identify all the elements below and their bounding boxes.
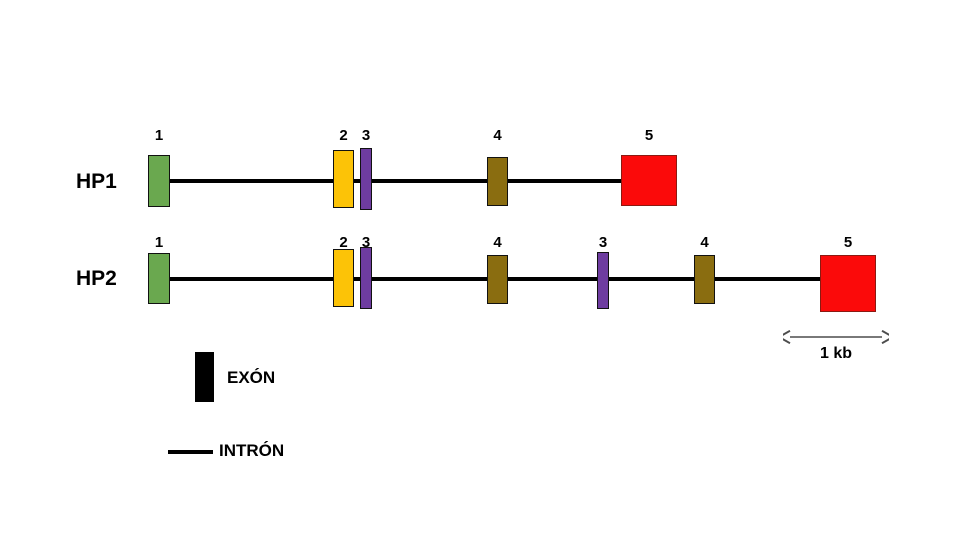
exon-box-hp2-2: [333, 249, 354, 307]
exon-number-hp2-2: 2: [333, 234, 354, 251]
exon-box-hp1-4: [487, 157, 508, 206]
exon-number-hp1-4: 4: [487, 127, 508, 144]
exon-box-hp1-1: [148, 155, 170, 207]
gene-label-hp2: HP2: [76, 267, 117, 291]
exon-number-hp1-1: 1: [148, 127, 170, 144]
exon-number-hp2-3b: 3: [595, 234, 611, 251]
exon-box-hp1-5: [621, 155, 677, 206]
legend-intron-swatch: [168, 450, 213, 454]
exon-number-hp1-3: 3: [358, 127, 374, 144]
exon-box-hp2-4a: [487, 255, 508, 304]
legend-exon-swatch: [195, 352, 214, 402]
gene-structure-diagram: HP1 1 2 3 4 5 HP2 1 2 3 4 3 4 5: [0, 0, 960, 540]
gene-label-hp1: HP1: [76, 170, 117, 194]
exon-box-hp2-5: [820, 255, 876, 312]
exon-number-hp2-5: 5: [820, 234, 876, 251]
legend-intron-label: INTRÓN: [219, 441, 284, 461]
scale-bar-label: 1 kb: [783, 345, 889, 363]
exon-box-hp2-1: [148, 253, 170, 304]
exon-box-hp2-3a: [360, 247, 372, 309]
legend-exon-label: EXÓN: [227, 368, 275, 388]
exon-box-hp1-3: [360, 148, 372, 210]
exon-number-hp1-5: 5: [621, 127, 677, 144]
exon-number-hp1-2: 2: [333, 127, 354, 144]
exon-box-hp2-3b: [597, 252, 609, 309]
exon-number-hp2-3a: 3: [358, 234, 374, 251]
exon-box-hp2-4b: [694, 255, 715, 304]
exon-number-hp2-4a: 4: [487, 234, 508, 251]
exon-box-hp1-2: [333, 150, 354, 208]
exon-number-hp2-1: 1: [148, 234, 170, 251]
intron-backbone-hp1: [166, 179, 624, 183]
exon-number-hp2-4b: 4: [694, 234, 715, 251]
